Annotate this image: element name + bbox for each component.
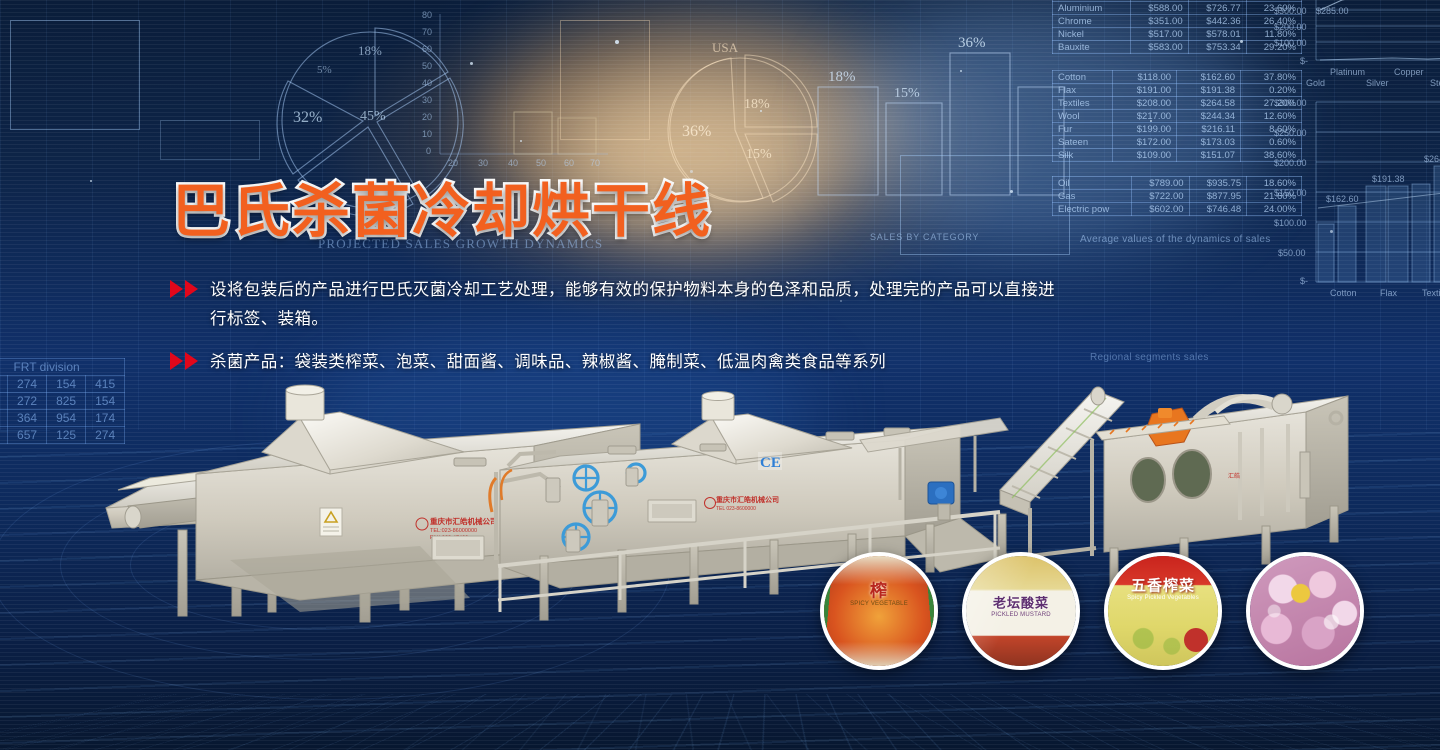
product-thumb[interactable] [1246,552,1364,670]
product-sublabel: Spicy Pickled Vegetables [1127,595,1199,601]
product-thumb[interactable]: 老坛酸菜 PICKLED MUSTARD [962,552,1080,670]
product-gallery: 榨 SPICY VEGETABLE 老坛酸菜 PICKLED MUSTARD 五… [820,552,1364,670]
banner-root: 18% 5% 32% 45% PROJECTED SALES GROWTH DY… [0,0,1440,750]
product-label: 老坛酸菜 [993,593,1049,612]
product-thumb[interactable]: 五香榨菜 Spicy Pickled Vegetables [1104,552,1222,670]
svg-text:TEL 023-8600000: TEL 023-8600000 [716,506,756,512]
machine-ce-mark: CE [758,452,782,471]
product-sublabel: PICKLED MUSTARD [991,612,1051,618]
svg-text:CE: CE [760,455,781,471]
product-thumb[interactable]: 榨 SPICY VEGETABLE [820,552,938,670]
product-sublabel: SPICY VEGETABLE [850,601,908,607]
product-label: 五香榨菜 [1131,574,1195,595]
svg-text:重庆市汇皓机械公司: 重庆市汇皓机械公司 [716,495,779,504]
product-label: 榨 [870,577,888,602]
svg-text:重庆市汇皓机械公司: 重庆市汇皓机械公司 [430,516,498,526]
svg-text:TEL:023-86000000: TEL:023-86000000 [430,528,477,534]
product-seal-icon [1184,628,1208,652]
machine-warning-label [320,508,342,536]
svg-text:汇皓: 汇皓 [1228,472,1240,480]
